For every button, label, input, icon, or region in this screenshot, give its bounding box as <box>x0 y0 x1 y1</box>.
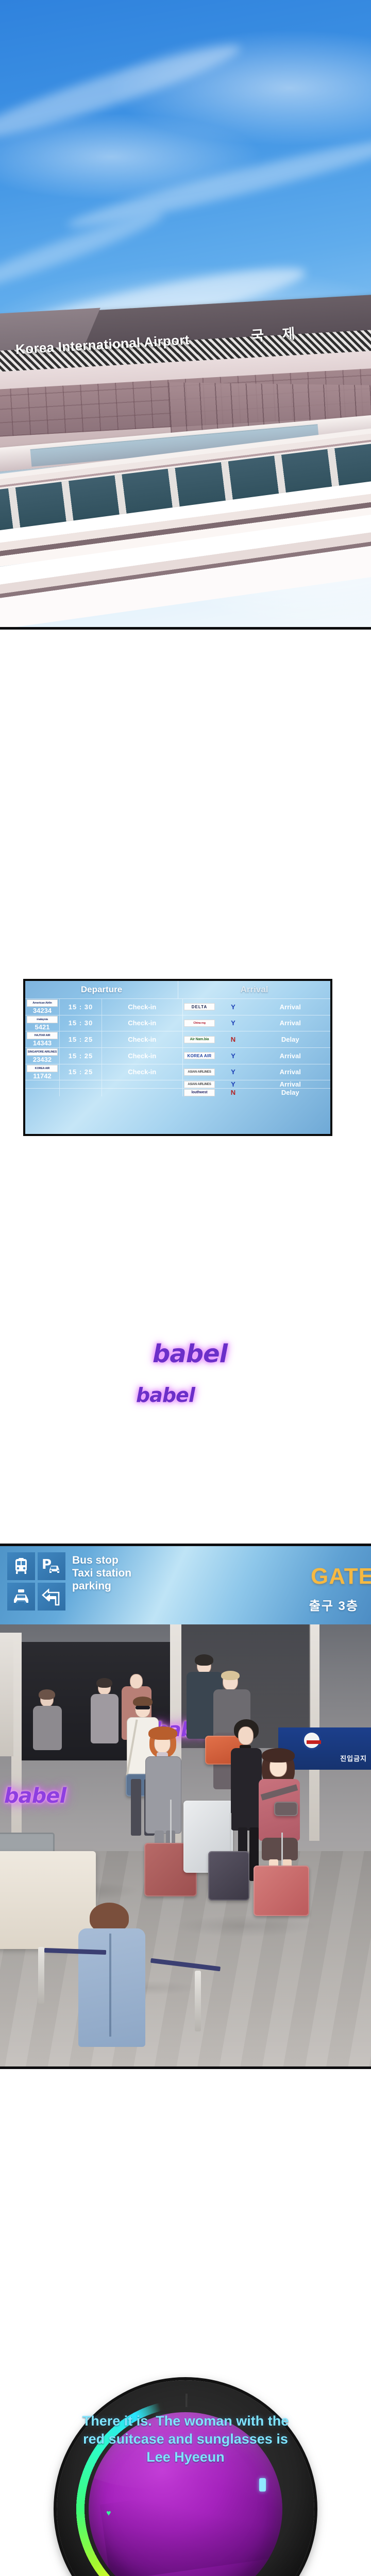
narration-text: There it is. The woman with the red suit… <box>57 2412 314 2466</box>
table-row: HAJTAR AIR1434315 : 25Check-inAir Nam.bi… <box>25 1031 330 1047</box>
door-frame-far-left <box>0 1633 13 1756</box>
arrival-status-cell: Arrival <box>250 1048 331 1064</box>
signboard-line-bus-stop: Bus stop <box>72 1554 131 1567</box>
flight-number: 5421 <box>35 1024 50 1031</box>
departure-airline-cell: malaysia5421 <box>25 1015 59 1031</box>
arrival-status-cell: Arrival <box>250 999 331 1015</box>
left-arrow-icon <box>38 1583 65 1611</box>
departure-time-cell: 15 : 25 <box>59 1031 102 1047</box>
board-header-row: Departure Arrival <box>25 981 330 998</box>
bus-icon <box>7 1552 35 1580</box>
airline-logo: KOREA AIR <box>184 1052 215 1059</box>
departure-status-cell: Check-in <box>102 1064 182 1080</box>
signboard-line-parking: parking <box>72 1580 131 1593</box>
skirt <box>262 1838 298 1860</box>
departure-airline-cell: American Airlin34234 <box>25 999 59 1015</box>
departure-time-cell <box>59 1089 102 1096</box>
webtoon-page: Korea International Airport국 제 KOREA AIR… <box>0 0 371 2576</box>
babel-watermark-small: babel <box>136 1384 195 1406</box>
red-suitcase-hyeeun <box>254 1866 309 1916</box>
airline-logo: DELTA <box>184 1003 215 1010</box>
departure-airline-cell: KOREA AIR11742 <box>25 1064 59 1080</box>
arrival-onboard-cell: Y <box>216 999 250 1015</box>
suitcase-handle <box>230 1813 231 1856</box>
parking-car-icon: P <box>38 1552 65 1580</box>
arrival-header: Arrival <box>178 981 330 998</box>
no-entry-icon <box>302 1731 322 1750</box>
departure-time-cell: 15 : 30 <box>59 999 102 1015</box>
departure-status-cell: Check-in <box>102 1048 182 1064</box>
panel-narration: ♥ There it is. The woman with the red su… <box>0 2349 371 2576</box>
suitcase-handle <box>281 1833 283 1868</box>
arrival-onboard-cell: Y <box>216 1048 250 1064</box>
concourse-interior: 진입금지 babel babel <box>0 1624 371 2069</box>
babel-watermark-large: babel <box>153 1340 227 1368</box>
table-row: American Airlin3423415 : 30Check-inDELTA… <box>25 998 330 1015</box>
arrival-airline-cell: ASIAN AIRLINES <box>182 1080 216 1088</box>
heart-icon: ♥ <box>106 2509 111 2518</box>
panel-concourse: P Bus stop Taxi station parking GATE 출구 … <box>0 1544 371 2069</box>
flight-information-board: Departure Arrival American Airlin3423415… <box>23 979 332 1136</box>
airline-logo: China reg <box>184 1020 215 1027</box>
arc-end-marker <box>259 2478 266 2492</box>
arrival-status-cell: Delay <box>250 1031 331 1047</box>
signboard-line-taxi-station: Taxi station <box>72 1567 131 1580</box>
departure-time-cell: 15 : 30 <box>59 1015 102 1031</box>
arrival-airline-cell: louthwest <box>182 1089 216 1096</box>
arrival-airline-cell: China reg <box>182 1015 216 1031</box>
grey-coat <box>145 1756 181 1834</box>
narration-dial-bezel: ♥ There it is. The woman with the red su… <box>57 2380 314 2576</box>
queue-post <box>38 1947 44 2004</box>
airline-logo: American Airlin <box>27 999 58 1007</box>
gate-label: GATE <box>311 1564 371 1589</box>
table-row: KOREA AIR1174215 : 25Check-inASIAN AIRLI… <box>25 1064 330 1080</box>
sunglasses-icon <box>136 1706 150 1709</box>
taxi-icon <box>7 1583 35 1611</box>
airline-logo: ASIAN AIRLINES <box>184 1069 215 1076</box>
babel-neon-left: babel <box>4 1784 66 1808</box>
departure-airline-cell <box>25 1080 59 1088</box>
dark-suitcase <box>208 1851 249 1901</box>
airline-logo: SINGAPORE AIRLINES <box>27 1048 58 1056</box>
gate-label-korean: 출구 3층 <box>309 1596 359 1614</box>
airline-logo: ASIAN AIRLINES <box>184 1081 215 1088</box>
table-row: SINGAPORE AIRLINES2343215 : 25Check-inKO… <box>25 1047 330 1064</box>
departure-status-cell: Check-in <box>102 1031 182 1047</box>
arrival-airline-cell: Air Nam.bia <box>182 1031 216 1047</box>
airline-logo: Air Nam.bia <box>184 1036 215 1043</box>
departure-airline-cell: HAJTAR AIR14343 <box>25 1031 59 1047</box>
waist-pouch <box>274 1802 298 1816</box>
panel-airport-exterior: Korea International Airport국 제 KOREA AIR… <box>0 0 371 630</box>
flight-number: 34234 <box>33 1007 52 1014</box>
board-rows: American Airlin3423415 : 30Check-inDELTA… <box>25 998 330 1096</box>
departure-status-cell: Check-in <box>102 1015 182 1031</box>
queue-post <box>195 1971 201 2031</box>
arrival-status-cell: Arrival <box>250 1015 331 1031</box>
signboard-text: Bus stop Taxi station parking <box>72 1554 131 1592</box>
arrival-onboard-cell: Y <box>216 1080 250 1088</box>
arrival-status-cell: Arrival <box>250 1080 331 1088</box>
airport-name-ko: 국 제 <box>251 326 303 344</box>
arrival-airline-cell: DELTA <box>182 999 216 1015</box>
table-row: malaysia542115 : 30Check-inChina regYArr… <box>25 1015 330 1031</box>
arrival-onboard-cell: N <box>216 1031 250 1047</box>
airline-logo: KOREA AIR <box>27 1065 58 1072</box>
table-row: ASIAN AIRLINESYArrival <box>25 1080 330 1088</box>
glass-shadow <box>100 2475 282 2576</box>
arrival-airline-cell: KOREA AIR <box>182 1048 216 1064</box>
airline-logo: HAJTAR AIR <box>27 1032 58 1039</box>
departure-time-cell: 15 : 25 <box>59 1048 102 1064</box>
flight-number: 14343 <box>33 1040 52 1047</box>
airline-logo: louthwest <box>184 1089 215 1096</box>
suitcase-handle <box>170 1800 172 1845</box>
departure-status-cell <box>102 1089 182 1096</box>
wayfinding-signboard: P Bus stop Taxi station parking GATE 출구 … <box>0 1546 371 1624</box>
arrival-onboard-cell: N <box>216 1089 250 1096</box>
flight-number: 11742 <box>33 1073 51 1080</box>
signboard-icon-grid: P <box>7 1552 65 1611</box>
arrival-status-cell: Delay <box>250 1089 331 1096</box>
departure-airline-cell <box>25 1089 59 1096</box>
panel-flight-board: Departure Arrival American Airlin3423415… <box>0 969 371 1149</box>
departure-airline-cell: SINGAPORE AIRLINES23432 <box>25 1048 59 1064</box>
arrival-status-cell: Arrival <box>250 1064 331 1080</box>
departure-status-cell <box>102 1080 182 1088</box>
departure-status-cell: Check-in <box>102 999 182 1015</box>
flight-number: 23432 <box>33 1056 52 1063</box>
table-row: louthwestNDelay <box>25 1088 330 1096</box>
departure-time-cell <box>59 1080 102 1088</box>
departure-header: Departure <box>25 981 178 998</box>
airline-logo: malaysia <box>27 1016 58 1023</box>
arrival-onboard-cell: Y <box>216 1064 250 1080</box>
no-entry-label-ko: 진입금지 <box>340 1753 367 1763</box>
arrival-airline-cell: ASIAN AIRLINES <box>182 1064 216 1080</box>
arrival-onboard-cell: Y <box>216 1015 250 1031</box>
departure-time-cell: 15 : 25 <box>59 1064 102 1080</box>
